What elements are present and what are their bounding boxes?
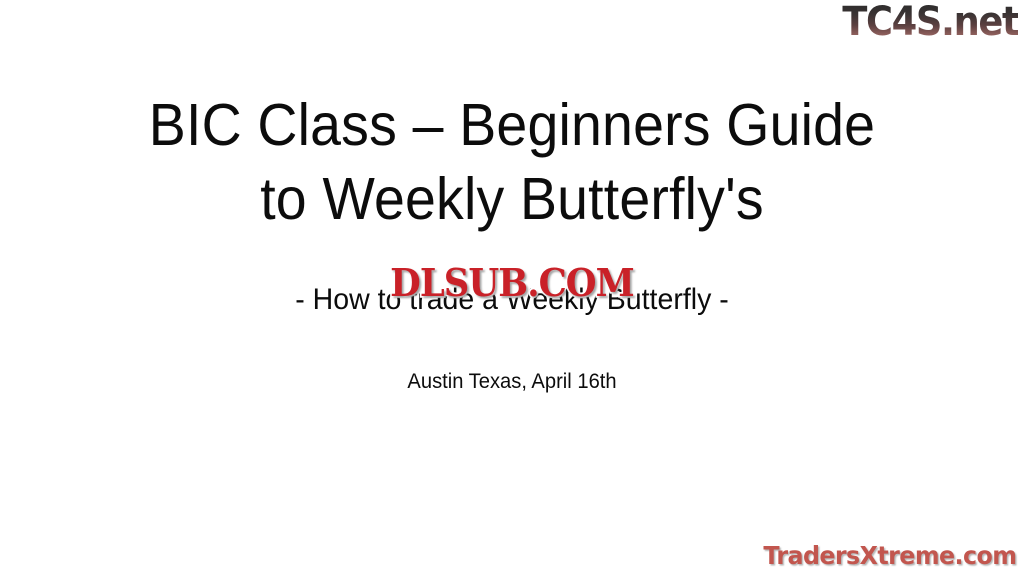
- slide-title: BIC Class – Beginners Guide to Weekly Bu…: [0, 88, 1024, 236]
- slide-subtitle: - How to trade a Weekly Butterfly -: [0, 282, 1024, 318]
- venue-date-text: Austin Texas, April 16th: [20, 368, 1003, 396]
- title-line-2: to Weekly Butterfly's: [31, 162, 994, 236]
- subtitle-text: - How to trade a Weekly Butterfly -: [26, 282, 999, 318]
- presentation-slide: TC4S.net BIC Class – Beginners Guide to …: [0, 0, 1024, 576]
- title-line-1: BIC Class – Beginners Guide: [31, 88, 994, 162]
- tc4s-brand-logo[interactable]: TC4S.net: [842, 2, 1018, 42]
- tradersxtreme-brand-logo[interactable]: TradersXtreme.com: [763, 542, 1016, 570]
